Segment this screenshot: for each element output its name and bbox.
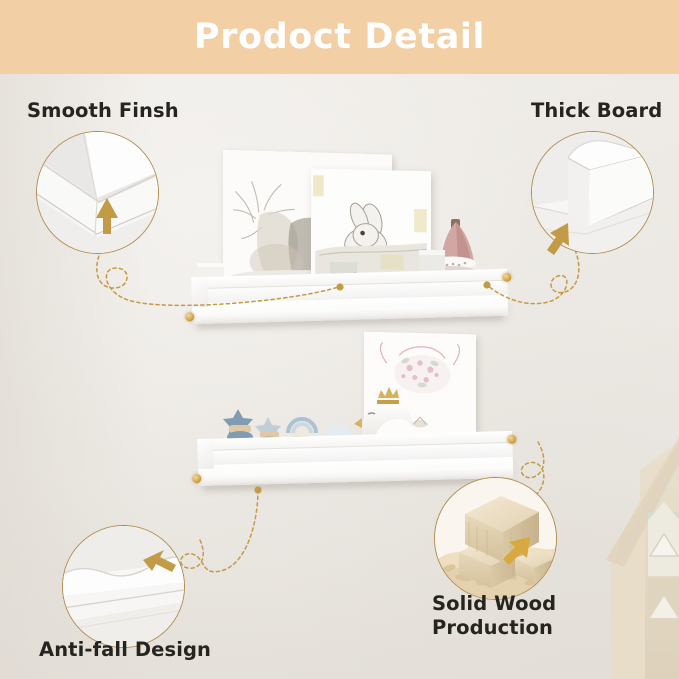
callout-label-anti-fall-design: Anti-fall Design	[39, 638, 211, 662]
upper-shelf-left-endcap	[191, 277, 208, 307]
callout-label-smooth-finish: Smooth Finsh	[27, 99, 179, 123]
lower-shelf-left-endcap	[197, 439, 214, 469]
callout-thick-board	[531, 131, 654, 254]
callout-label-solid-wood-production: Solid Wood Production	[432, 592, 556, 640]
callout-label-thick-board: Thick Board	[531, 99, 662, 123]
callout-solid-wood-production	[434, 477, 557, 600]
callout-smooth-finish	[36, 131, 159, 254]
callout-anti-fall-design	[62, 525, 185, 648]
banner: Prodoct Detail	[0, 0, 679, 74]
upper-shelf	[191, 277, 508, 334]
banner-title: Prodoct Detail	[194, 20, 485, 55]
floral-art-frame	[364, 332, 476, 445]
product-detail-image: Smooth Finsh Thick Board	[0, 0, 679, 679]
